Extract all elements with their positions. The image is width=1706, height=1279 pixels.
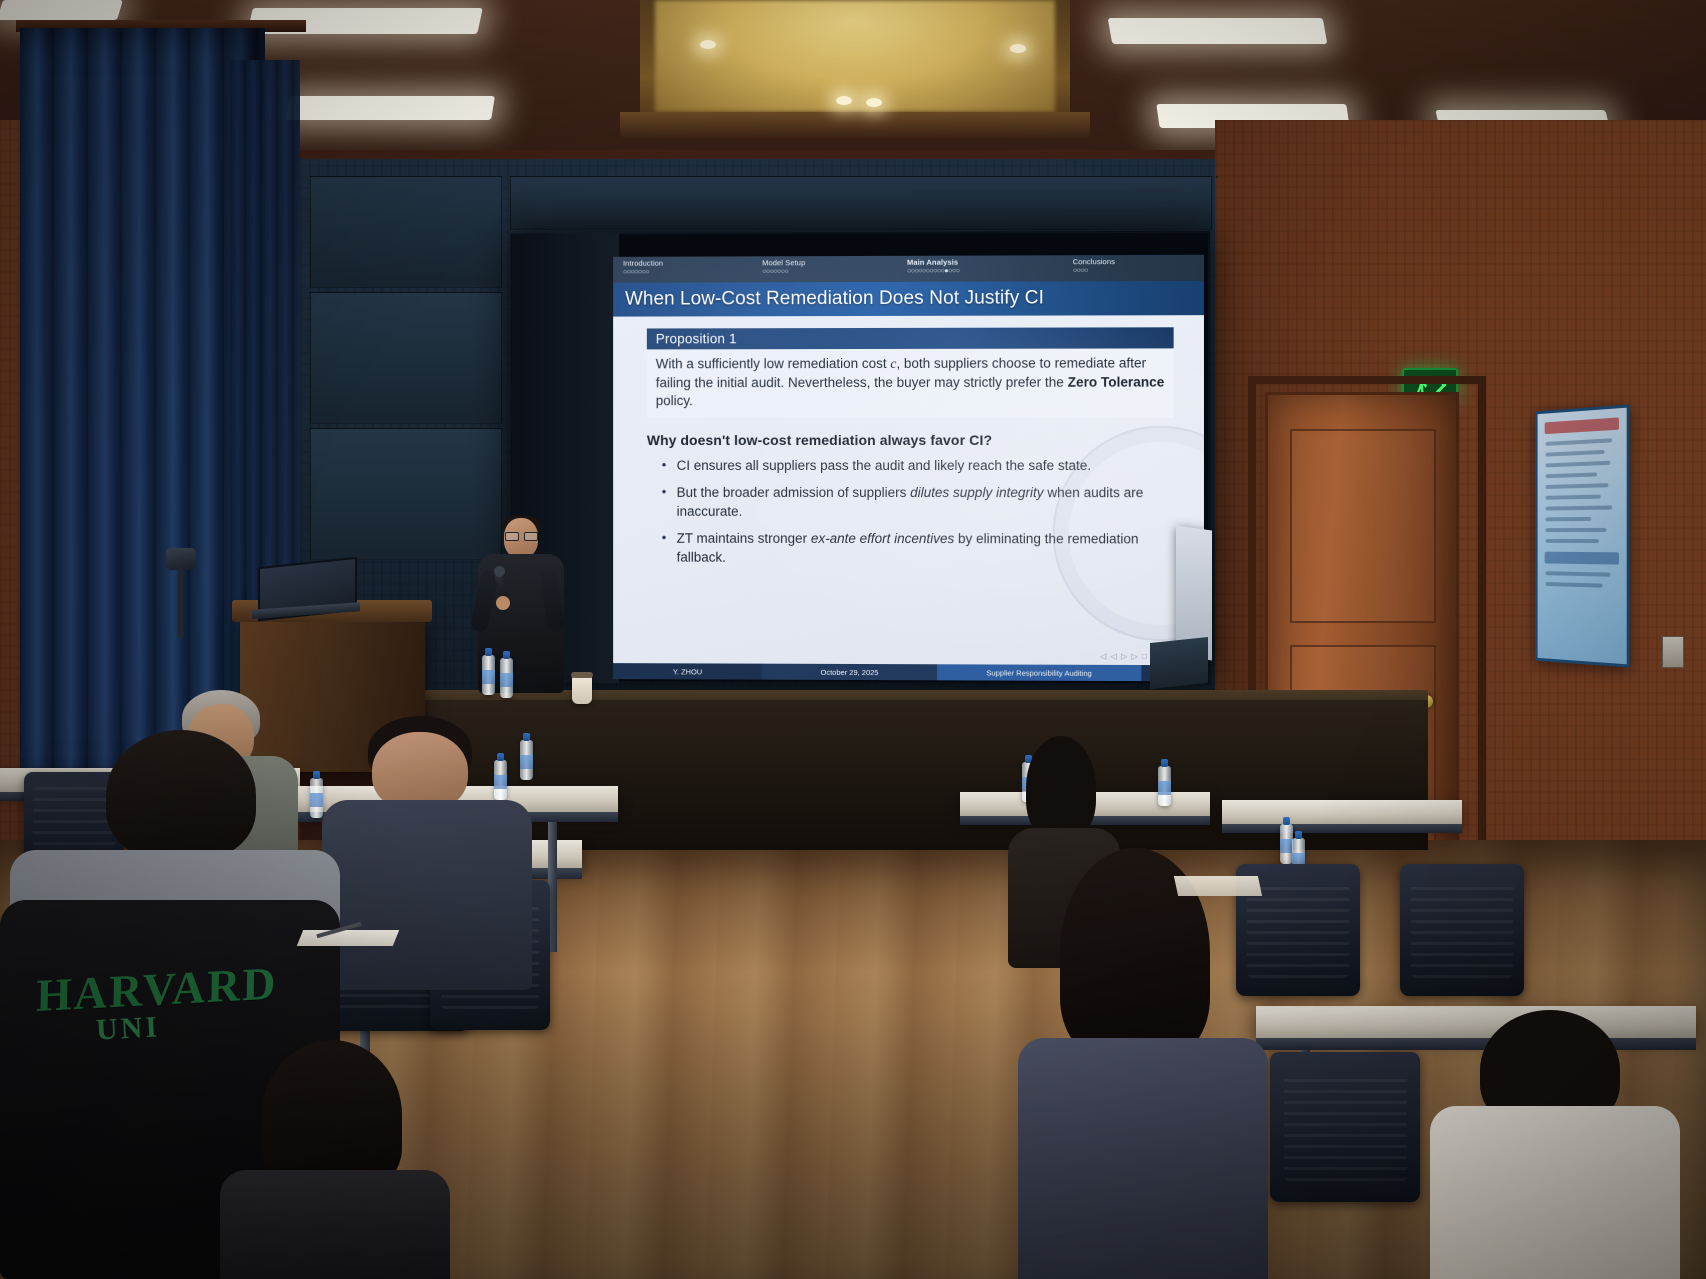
list-item: ZT maintains stronger ex-ante effort inc… [667, 530, 1174, 568]
water-bottle [1158, 766, 1171, 806]
chair[interactable] [1270, 1052, 1420, 1202]
glasses-icon [505, 532, 537, 539]
footer-author: Y. ZHOU [613, 663, 762, 680]
prop-text-1: With a sufficiently low remediation cost [656, 356, 891, 371]
audience-person [1440, 1010, 1670, 1279]
desk-edge [1222, 824, 1462, 833]
wall-panel [1216, 176, 1218, 178]
presenter-hand [496, 596, 510, 610]
slide-title-text: When Low-Cost Remediation Does Not Justi… [613, 287, 1044, 310]
audience-person [1034, 848, 1254, 1278]
microphone-head [494, 566, 505, 577]
prop-text-3: policy. [656, 393, 693, 408]
slide-title-bar: When Low-Cost Remediation Does Not Justi… [613, 281, 1204, 317]
bullet-text: ZT maintains stronger [677, 531, 811, 546]
ceiling-edge-trim [620, 112, 1090, 138]
list-item: CI ensures all suppliers pass the audit … [667, 457, 1174, 476]
audience-person [344, 716, 504, 946]
nav-label: Introduction [623, 260, 663, 268]
proposition-header: Proposition 1 [647, 327, 1174, 349]
paper-sheet [1174, 876, 1262, 896]
list-item: But the broader admission of suppliers d… [667, 484, 1174, 521]
paper-sheet [297, 930, 399, 946]
nav-label: Main Analysis [907, 259, 959, 267]
water-bottle [482, 655, 495, 695]
footer-topic: Supplier Responsibility Auditing [937, 664, 1141, 681]
water-bottle [310, 778, 323, 818]
slide-body: Proposition 1 With a sufficiently low re… [647, 327, 1174, 577]
bullet-list: CI ensures all suppliers pass the audit … [647, 457, 1174, 568]
ceiling-cove-light [655, 0, 1055, 112]
ceiling-downlight [866, 98, 882, 107]
ceiling-light-panel [286, 96, 495, 120]
nav-label: Conclusions [1073, 258, 1115, 266]
nav-section-conclusions[interactable]: Conclusions ○○○○ [1073, 258, 1115, 274]
wall-panel [310, 292, 502, 424]
bullet-text: But the broader admission of suppliers [677, 485, 911, 500]
desk [1222, 800, 1462, 826]
wall-switch-plate[interactable] [1662, 636, 1684, 668]
footer-date: October 29, 2025 [762, 664, 937, 681]
camera [166, 548, 196, 570]
nav-dots: ○○○○○○○ [762, 268, 805, 275]
slide-surface: Introduction ○○○○○○○ Model Setup ○○○○○○○… [613, 255, 1204, 682]
wall-panel [310, 176, 502, 288]
coffee-cup [572, 676, 592, 704]
whiteboard-stand [1150, 637, 1208, 689]
ceiling-downlight [700, 40, 716, 49]
water-bottle [520, 740, 533, 780]
bullet-text: CI ensures all suppliers pass the audit … [677, 458, 1091, 473]
bullet-italic: ex-ante effort incentives [811, 531, 954, 546]
lecture-hall-photo: Introduction ○○○○○○○ Model Setup ○○○○○○○… [0, 0, 1706, 1279]
chair[interactable] [1400, 864, 1524, 996]
nav-dots: ○○○○○○○○○○●○○○ [907, 268, 959, 276]
slide-navigation-bar: Introduction ○○○○○○○ Model Setup ○○○○○○○… [613, 255, 1204, 283]
prop-bold-zero-tolerance: Zero Tolerance [1068, 374, 1165, 389]
ceiling-light-panel [1108, 18, 1328, 44]
nav-section-introduction[interactable]: Introduction ○○○○○○○ [623, 260, 663, 276]
audience-person [232, 1040, 432, 1279]
proposition-body: With a sufficiently low remediation cost… [647, 348, 1174, 418]
screen-header-panel [510, 176, 1212, 230]
hoodie-print-text-2: UNI [95, 1010, 161, 1047]
wall-trim [300, 150, 1215, 159]
camera-stand [178, 568, 183, 638]
nav-dots: ○○○○ [1073, 267, 1115, 275]
ceiling-light-panel [0, 0, 123, 20]
curtain-main [20, 28, 265, 788]
ceiling-downlight [1010, 44, 1026, 53]
nav-dots: ○○○○○○○ [623, 269, 663, 276]
nav-label: Model Setup [762, 259, 805, 267]
wall-notice-board [1535, 404, 1630, 667]
slide-footer: Y. ZHOU October 29, 2025 Supplier Respon… [613, 663, 1204, 681]
ceiling-downlight [836, 96, 852, 105]
projection-screen[interactable]: Introduction ○○○○○○○ Model Setup ○○○○○○○… [510, 231, 1210, 686]
nav-section-model-setup[interactable]: Model Setup ○○○○○○○ [762, 259, 805, 275]
bullet-italic: dilutes supply integrity [910, 485, 1043, 500]
nav-section-main-analysis[interactable]: Main Analysis ○○○○○○○○○○●○○○ [907, 259, 959, 275]
question-heading: Why doesn't low-cost remediation always … [647, 432, 1174, 448]
water-bottle [500, 658, 513, 698]
